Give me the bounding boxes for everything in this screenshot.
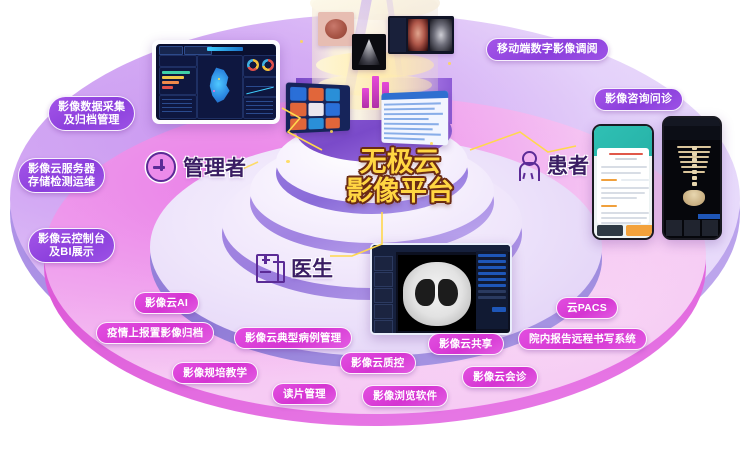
bi-dashboard-monitor[interactable] — [152, 40, 280, 124]
pill-image-consultation[interactable]: 影像咨询问诊 — [594, 88, 683, 111]
pill-data-collection[interactable]: 影像数据采集 及归档管理 — [48, 96, 135, 131]
pill-line: 存储检测运维 — [28, 176, 95, 188]
pill-console-bi[interactable]: 影像云控制台 及BI展示 — [28, 228, 115, 263]
infographic-canvas: 管理者 患者 医生 无极云 影像平台 影像数据采集 及归档管理 影像云服务器 存… — [0, 0, 750, 450]
role-doctor[interactable]: 医生 — [256, 253, 333, 283]
title-line-2: 影像平台 — [330, 177, 470, 206]
pill-line: 影像云控制台 — [38, 233, 105, 245]
pill-line: 影像云典型病例管理 — [245, 332, 341, 344]
pill-remote-report-system[interactable]: 院内报告远程书写系统 — [518, 328, 647, 350]
pill-line: 影像数据采集 — [58, 101, 125, 113]
endoscopy-image-panel — [318, 12, 354, 46]
pill-cloud-qc[interactable]: 影像云质控 — [340, 352, 416, 374]
pill-mobile-image-retrieval[interactable]: 移动端数字影像调阅 — [486, 38, 609, 61]
app-tile-panel — [286, 82, 350, 133]
sparkle — [300, 40, 303, 43]
pill-line: 影像云服务器 — [28, 163, 95, 175]
pill-line: 及归档管理 — [64, 114, 120, 126]
pill-cloud-sharing[interactable]: 影像云共享 — [428, 333, 504, 355]
data-table-panel — [381, 91, 448, 146]
pill-line: 影像浏览软件 — [373, 390, 437, 402]
pill-film-reading-mgmt[interactable]: 读片管理 — [272, 383, 337, 405]
pill-line: 读片管理 — [283, 388, 326, 400]
sparkle — [430, 142, 433, 145]
pill-training-teaching[interactable]: 影像规培教学 — [172, 362, 258, 384]
pill-line: 影像云共享 — [439, 338, 493, 350]
pill-line: 院内报告远程书写系统 — [529, 333, 636, 345]
page-title: 无极云 影像平台 — [330, 148, 470, 206]
pill-viewer-software[interactable]: 影像浏览软件 — [362, 385, 448, 407]
pill-line: 影像云质控 — [351, 357, 405, 369]
role-patient-label: 患者 — [547, 150, 589, 180]
pill-cloud-consultation[interactable]: 影像云会诊 — [462, 366, 538, 388]
mobile-report-app[interactable] — [592, 124, 654, 240]
ct-viewer-workstation[interactable] — [370, 243, 512, 335]
pill-cloud-server[interactable]: 影像云服务器 存储检测运维 — [18, 158, 105, 193]
title-line-1: 无极云 — [360, 147, 441, 177]
role-manager-label: 管理者 — [183, 152, 246, 182]
sparkle — [330, 130, 333, 133]
pill-line: 云PACS — [567, 302, 607, 314]
person-icon — [516, 151, 540, 179]
medical-cross-circle-icon — [146, 152, 176, 182]
sparkle — [448, 62, 451, 65]
pill-epidemic-archive[interactable]: 疫情上报置影像归档 — [96, 322, 214, 344]
pill-line: 及BI展示 — [49, 246, 94, 258]
sparkle — [286, 160, 290, 163]
pill-typical-case-mgmt[interactable]: 影像云典型病例管理 — [234, 327, 352, 349]
role-patient[interactable]: 患者 — [516, 150, 589, 180]
role-manager[interactable]: 管理者 — [146, 152, 246, 182]
medical-chart-icon — [256, 254, 284, 282]
pill-line: 影像咨询问诊 — [605, 93, 672, 106]
imaging-workstation-panel — [388, 16, 454, 54]
pill-line: 影像规培教学 — [183, 367, 247, 379]
role-doctor-label: 医生 — [291, 253, 333, 283]
pill-cloud-ai[interactable]: 影像云AI — [134, 292, 199, 314]
pill-line: 影像云会诊 — [473, 371, 527, 383]
mobile-3d-viewer[interactable] — [662, 116, 722, 240]
pill-line: 影像云AI — [145, 297, 188, 309]
pill-cloud-pacs[interactable]: 云PACS — [556, 297, 618, 319]
pill-line: 疫情上报置影像归档 — [107, 327, 203, 339]
pill-line: 移动端数字影像调阅 — [497, 43, 598, 56]
